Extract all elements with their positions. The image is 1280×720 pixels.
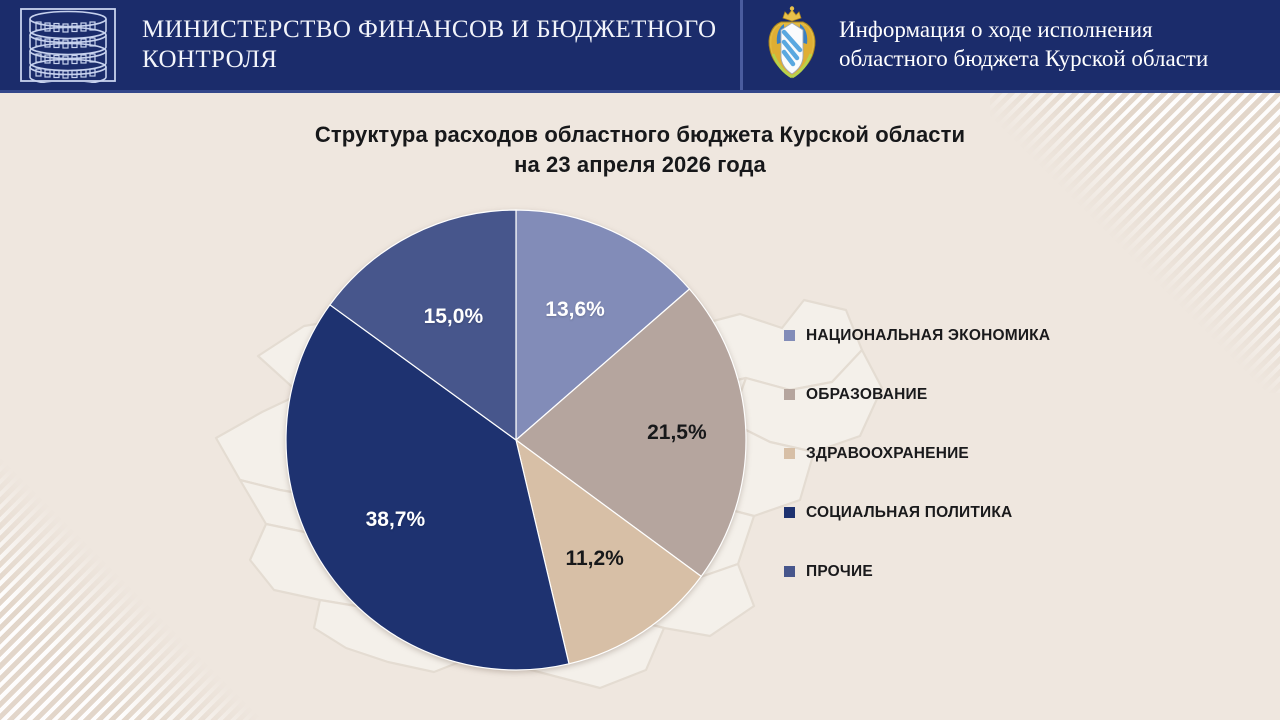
legend-item-label: ОБРАЗОВАНИЕ: [806, 386, 927, 404]
app-header: МИНИСТЕРСТВО ФИНАНСОВ И БЮДЖЕТНОГО КОНТР…: [0, 0, 1280, 93]
kursk-coat-of-arms-icon: [761, 6, 823, 84]
legend-color-swatch: [784, 507, 795, 518]
ministry-title: МИНИСТЕРСТВО ФИНАНСОВ И БЮДЖЕТНОГО КОНТР…: [142, 15, 716, 76]
pie-slice-value-label: 21,5%: [647, 421, 707, 445]
legend-item-label: ЗДРАВООХРАНЕНИЕ: [806, 445, 969, 463]
chart-title: Структура расходов областного бюджета Ку…: [0, 120, 1280, 180]
legend-color-swatch: [784, 389, 795, 400]
legend-item[interactable]: СОЦИАЛЬНАЯ ПОЛИТИКА: [784, 483, 1184, 542]
header-info-block: Информация о ходе исполнения областного …: [740, 0, 1280, 90]
stacked-coins-icon: [14, 7, 122, 83]
legend-item[interactable]: ПРОЧИЕ: [784, 542, 1184, 601]
header-ministry-block: МИНИСТЕРСТВО ФИНАНСОВ И БЮДЖЕТНОГО КОНТР…: [0, 0, 740, 90]
legend-item-label: ПРОЧИЕ: [806, 563, 873, 581]
legend-item[interactable]: ОБРАЗОВАНИЕ: [784, 365, 1184, 424]
header-info-title: Информация о ходе исполнения областного …: [839, 16, 1208, 74]
legend-item[interactable]: НАЦИОНАЛЬНАЯ ЭКОНОМИКА: [784, 306, 1184, 365]
pie-slice-value-label: 15,0%: [424, 305, 484, 329]
legend-color-swatch: [784, 448, 795, 459]
pie-slice-value-label: 11,2%: [565, 547, 623, 571]
legend-item-label: СОЦИАЛЬНАЯ ПОЛИТИКА: [806, 504, 1012, 522]
pie-chart: 13,6%21,5%11,2%38,7%15,0%: [284, 208, 748, 672]
legend-color-swatch: [784, 330, 795, 341]
legend-item-label: НАЦИОНАЛЬНАЯ ЭКОНОМИКА: [806, 327, 1050, 345]
chart-legend: НАЦИОНАЛЬНАЯ ЭКОНОМИКАОБРАЗОВАНИЕЗДРАВОО…: [784, 306, 1184, 601]
legend-color-swatch: [784, 566, 795, 577]
pie-slice-value-label: 38,7%: [366, 508, 426, 532]
pie-slice-value-label: 13,6%: [545, 298, 605, 322]
legend-item[interactable]: ЗДРАВООХРАНЕНИЕ: [784, 424, 1184, 483]
